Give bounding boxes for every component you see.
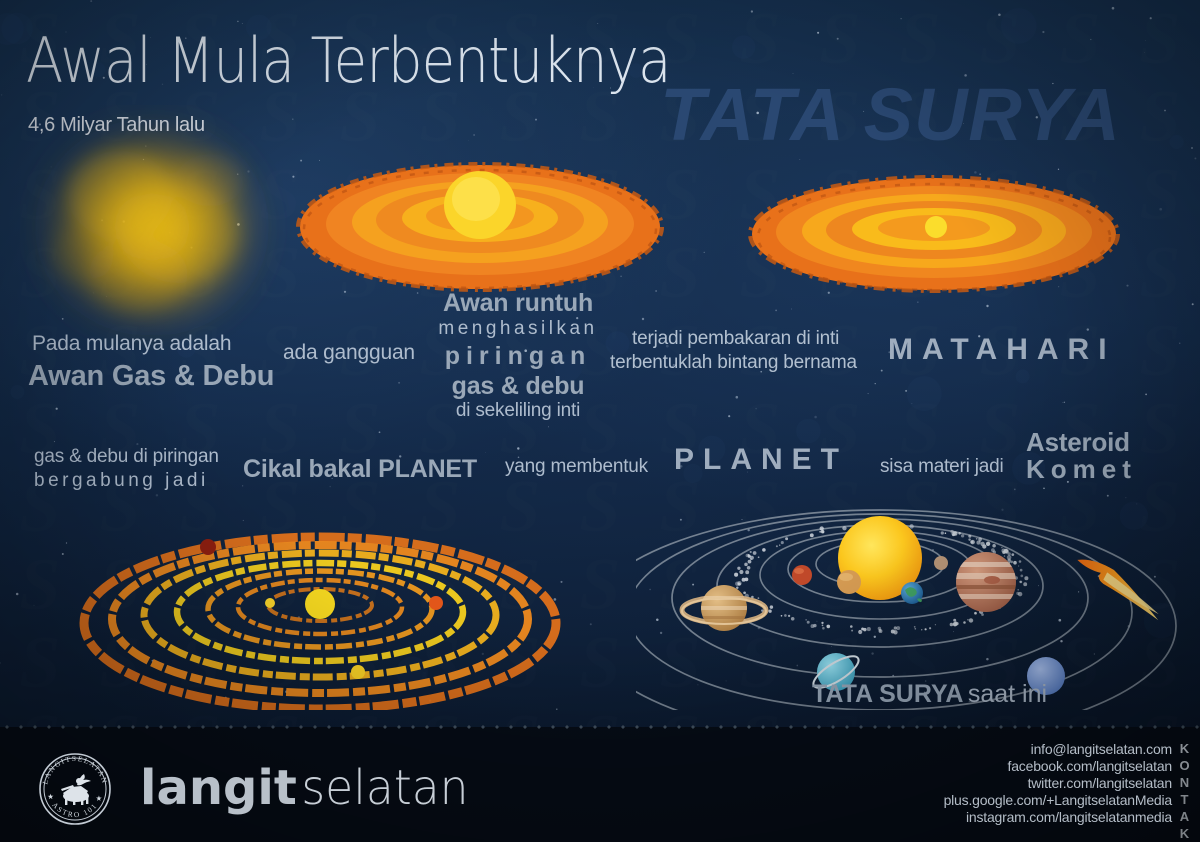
contact-list: info@langitselatan.com facebook.com/lang…	[944, 741, 1172, 826]
contact-email[interactable]: info@langitselatan.com	[944, 741, 1172, 758]
gas-dust-cloud-illustration	[20, 105, 290, 350]
komet-label: Komet	[1026, 454, 1137, 485]
contact-twitter[interactable]: twitter.com/langitselatan	[944, 775, 1172, 792]
infographic-poster: SSSSSSSSSSSSSSSSSSSSSSSSSSSSSSSSSSSSSSSS…	[0, 0, 1200, 842]
brand-wordmark[interactable]: langitselatan	[140, 760, 473, 816]
stage-accretion-line2: bergabung jadi	[34, 470, 209, 492]
contact-googleplus[interactable]: plus.google.com/+LangitselatanMedia	[944, 792, 1172, 809]
stage-nebula-label: Awan Gas & Debu	[28, 360, 274, 393]
stage-collapse-line2: menghasilkan	[432, 318, 604, 340]
brand-wordmark-thin: selatan	[301, 760, 468, 816]
present-system-caption: TATA SURYA saat ini	[812, 680, 1047, 709]
matahari-label: MATAHARI	[888, 333, 1116, 367]
stage-accretion-line1: gas & debu di piringan	[34, 446, 219, 468]
svg-text:LANGITSELATAN: LANGITSELATAN	[40, 754, 109, 785]
brand-wordmark-bold: langit	[140, 760, 297, 816]
present-system-light: saat ini	[968, 680, 1047, 708]
contact-instagram[interactable]: instagram.com/langitselatanmedia	[944, 809, 1172, 826]
stage-collapse-line3: piringan	[428, 342, 608, 371]
stage-ignition-line1: terjadi pembakaran di inti	[632, 328, 839, 350]
subject-title-ghost: TATA SURYA	[660, 72, 1121, 157]
planet-label: PLANET	[674, 443, 848, 477]
stage-nebula-caption: Pada mulanya adalah	[32, 332, 231, 356]
stage-ignition-line2: terbentuklah bintang bernama	[610, 352, 857, 374]
present-system-bold: TATA SURYA	[812, 680, 963, 708]
stage-collapse-line1: Awan runtuh	[432, 289, 604, 318]
stage-disturbance-caption: ada gangguan	[283, 341, 415, 365]
stage-leftovers-line1: sisa materi jadi	[880, 456, 1004, 478]
langitselatan-logo-badge[interactable]: LANGITSELATAN ★ ASTRO 101 ★	[36, 750, 114, 828]
footer-divider	[0, 725, 1200, 729]
cikal-bakal-planet-label: Cikal bakal PLANET	[243, 455, 477, 484]
modern-solar-system-illustration	[636, 500, 1200, 710]
stage-planets-line1: yang membentuk	[505, 456, 648, 478]
young-solar-system-illustration	[70, 515, 570, 710]
timeframe-label: 4,6 Milyar Tahun lalu	[28, 114, 205, 137]
contact-facebook[interactable]: facebook.com/langitselatan	[944, 758, 1172, 775]
protoplanetary-disk-star-illustration	[748, 168, 1120, 303]
stage-collapse-line4: gas & debu	[432, 372, 604, 401]
stage-collapse-line5: di sekeliling inti	[428, 400, 608, 422]
protoplanetary-disk-bulge-illustration	[295, 135, 665, 300]
kontak-vertical-label: KONTAK	[1176, 740, 1194, 842]
page-title: Awal Mula Terbentuknya	[26, 24, 671, 97]
